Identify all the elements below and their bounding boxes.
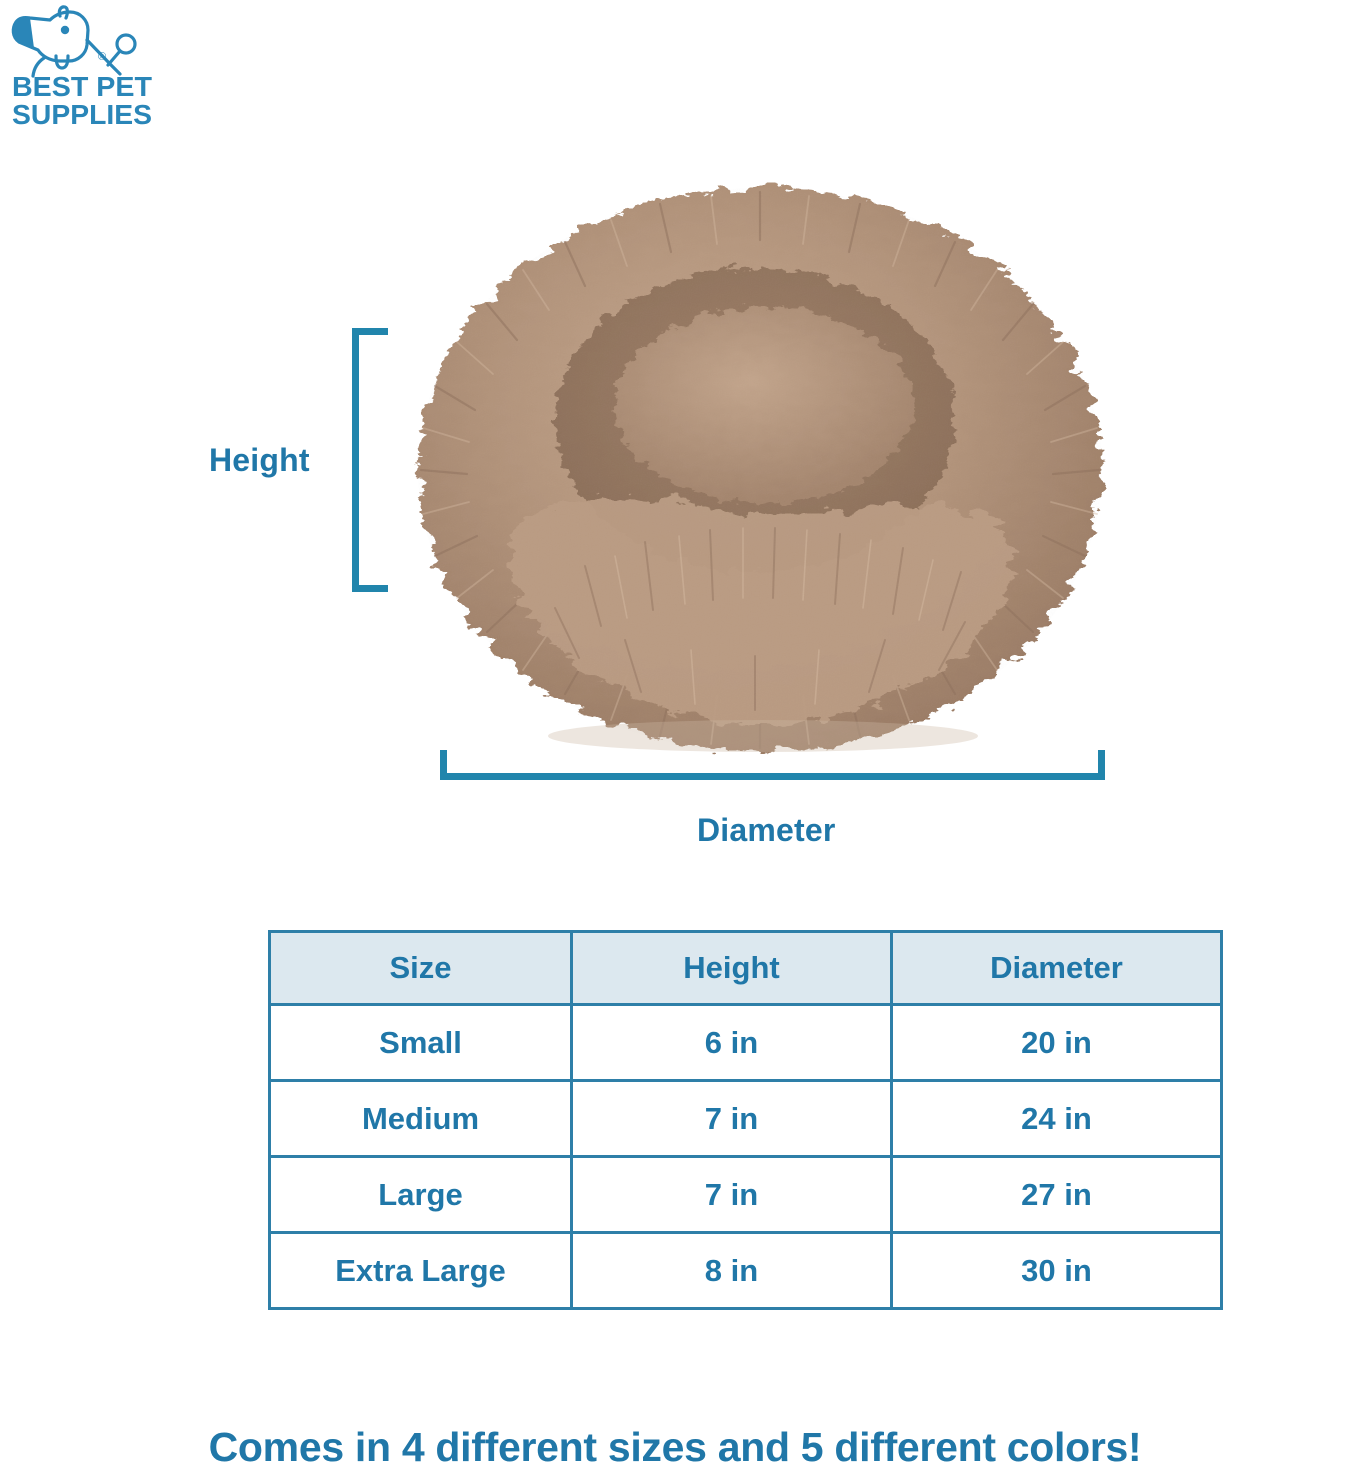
cell-size: Large — [270, 1157, 572, 1233]
cell-diameter: 20 in — [892, 1005, 1222, 1081]
diameter-dimension-label: Diameter — [697, 812, 836, 849]
size-chart-table: Size Height Diameter Small 6 in 20 in Me… — [268, 930, 1223, 1310]
product-image-donut-pet-bed — [395, 170, 1125, 760]
table-row: Small 6 in 20 in — [270, 1005, 1222, 1081]
cell-height: 6 in — [572, 1005, 892, 1081]
cell-size: Extra Large — [270, 1233, 572, 1309]
cell-height: 7 in — [572, 1157, 892, 1233]
cell-size: Medium — [270, 1081, 572, 1157]
cell-size: Small — [270, 1005, 572, 1081]
logo-text-line-1: BEST PET — [12, 71, 152, 102]
cell-height: 8 in — [572, 1233, 892, 1309]
column-header-size: Size — [270, 932, 572, 1005]
brand-logo: ® BEST PET SUPPLIES — [8, 4, 168, 129]
diameter-measurement-bracket — [440, 750, 1105, 780]
height-measurement-bracket — [352, 328, 388, 592]
table-row: Extra Large 8 in 30 in — [270, 1233, 1222, 1309]
cell-height: 7 in — [572, 1081, 892, 1157]
column-header-diameter: Diameter — [892, 932, 1222, 1005]
table-header-row: Size Height Diameter — [270, 932, 1222, 1005]
table-row: Medium 7 in 24 in — [270, 1081, 1222, 1157]
height-dimension-label: Height — [209, 442, 310, 479]
cell-diameter: 27 in — [892, 1157, 1222, 1233]
column-header-height: Height — [572, 932, 892, 1005]
table-row: Large 7 in 27 in — [270, 1157, 1222, 1233]
registered-trademark-mark: ® — [98, 51, 106, 63]
dog-outline-icon — [13, 7, 135, 76]
logo-text-line-2: SUPPLIES — [12, 99, 152, 129]
footer-tagline: Comes in 4 different sizes and 5 differe… — [0, 1424, 1350, 1471]
cell-diameter: 30 in — [892, 1233, 1222, 1309]
cell-diameter: 24 in — [892, 1081, 1222, 1157]
